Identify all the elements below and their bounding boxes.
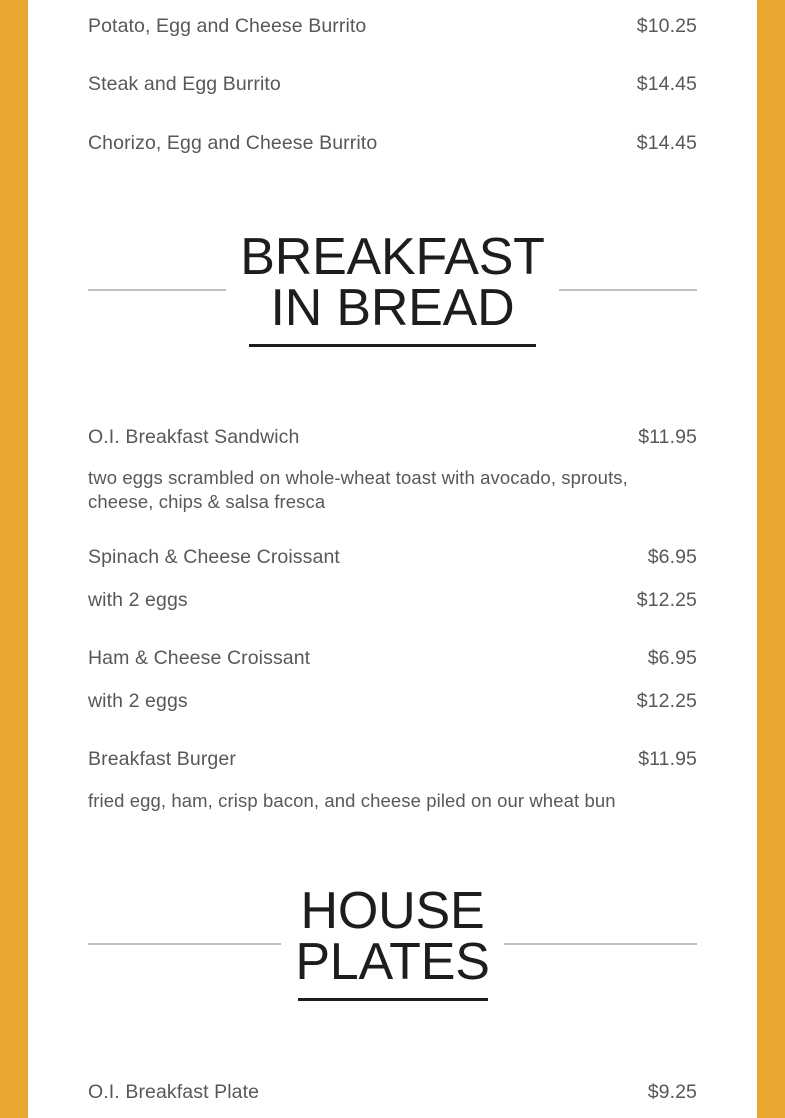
menu-item-name: O.I. Breakfast Sandwich [88,427,299,447]
menu-item-name: O.I. Breakfast Plate [88,1082,259,1102]
section-title-line-1: BREAKFAST [240,232,545,283]
menu-item-name: Chorizo, Egg and Cheese Burrito [88,133,377,153]
heading-underline [249,344,536,347]
menu-item-description: two eggs scrambled on whole-wheat toast … [88,466,648,513]
menu-item-row: Ham & Cheese Croissant$6.95 [88,648,697,668]
menu-item-price: $12.25 [637,590,697,610]
menu-section-heading: BREAKFASTIN BREAD [88,232,697,347]
section-title-line-2: PLATES [295,937,489,988]
menu-item-row: O.I. Breakfast Sandwich$11.95 [88,427,697,447]
menu-item-row: Steak and Egg Burrito$14.45 [88,74,697,94]
menu-item-row: Potato, Egg and Cheese Burrito$10.25 [88,16,697,36]
menu-item-name: Ham & Cheese Croissant [88,648,310,668]
menu-section-heading: HOUSEPLATES [88,886,697,1001]
menu-item-name: Potato, Egg and Cheese Burrito [88,16,366,36]
menu-item-price: $11.95 [638,427,697,447]
menu-item-price: $10.25 [637,16,697,36]
section-title: BREAKFASTIN BREAD [226,232,559,334]
heading-rule-right [545,289,697,291]
section-title-line-2: IN BREAD [240,283,545,334]
heading-rule-left [88,289,238,291]
page-edge-bar-right [757,0,785,1118]
heading-rule-left [88,943,286,945]
menu-item-price: $11.95 [638,749,697,769]
menu-item-row: Spinach & Cheese Croissant$6.95 [88,547,697,567]
menu-item-name: Spinach & Cheese Croissant [88,547,340,567]
heading-underline [298,998,488,1001]
menu-sheet: Potato, Egg and Cheese Burrito$10.25Stea… [28,0,757,1118]
page-edge-bar-left [0,0,28,1118]
menu-item-name: Steak and Egg Burrito [88,74,281,94]
menu-item-name: with 2 eggs [88,691,188,711]
menu-item-price: $14.45 [637,133,697,153]
menu-item-name: with 2 eggs [88,590,188,610]
menu-item-row: O.I. Breakfast Plate$9.25 [88,1082,697,1102]
section-title: HOUSEPLATES [281,886,503,988]
menu-item-row: Breakfast Burger$11.95 [88,749,697,769]
menu-item-name: Breakfast Burger [88,749,236,769]
menu-item-price: $14.45 [637,74,697,94]
menu-item-row: with 2 eggs$12.25 [88,691,697,711]
menu-item-price: $6.95 [648,547,697,567]
menu-item-row: with 2 eggs$12.25 [88,590,697,610]
menu-item-price: $12.25 [637,691,697,711]
menu-item-price: $9.25 [648,1082,697,1102]
heading-rule-right [497,943,697,945]
section-title-line-1: HOUSE [295,886,489,937]
menu-item-row: Chorizo, Egg and Cheese Burrito$14.45 [88,133,697,153]
menu-item-description: fried egg, ham, crisp bacon, and cheese … [88,789,648,813]
menu-item-price: $6.95 [648,648,697,668]
